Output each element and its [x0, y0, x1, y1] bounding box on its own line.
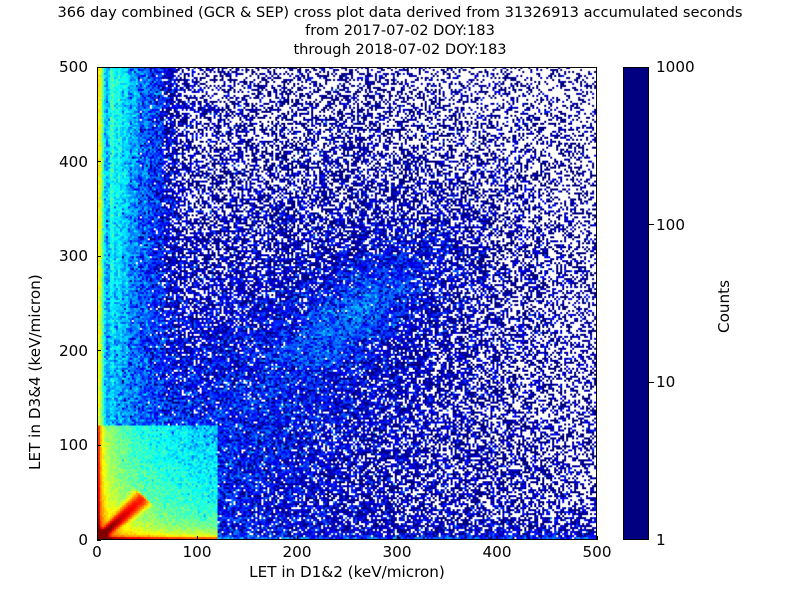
title-line-3: through 2018-07-02 DOY:183 [0, 41, 800, 59]
x-tick-mark [297, 536, 298, 540]
heatmap-image [98, 68, 596, 539]
y-tick-label: 500 [40, 58, 88, 76]
colorbar [623, 67, 649, 540]
y-tick-mark [97, 67, 101, 68]
y-tick-mark [97, 445, 101, 446]
y-tick-mark [97, 350, 101, 351]
colorbar-tick-mark [649, 382, 654, 383]
y-tick-mark [97, 161, 101, 162]
figure-canvas: 366 day combined (GCR & SEP) cross plot … [0, 0, 800, 600]
y-tick-label: 100 [40, 436, 88, 454]
y-tick-label: 200 [40, 342, 88, 360]
colorbar-tick-label: 1000 [656, 58, 695, 76]
y-tick-label: 400 [40, 153, 88, 171]
title-line-1: 366 day combined (GCR & SEP) cross plot … [0, 4, 800, 22]
colorbar-tick-label: 10 [656, 373, 675, 391]
figure-title: 366 day combined (GCR & SEP) cross plot … [0, 4, 800, 59]
x-tick-label: 500 [583, 543, 612, 561]
colorbar-tick-mark [649, 224, 654, 225]
colorbar-tick-label: 100 [656, 216, 685, 234]
x-tick-mark [197, 536, 198, 540]
y-tick-mark [97, 256, 101, 257]
x-axis-label: LET in D1&2 (keV/micron) [97, 563, 597, 581]
x-tick-label: 200 [283, 543, 312, 561]
x-tick-label: 0 [92, 543, 102, 561]
title-line-2: from 2017-07-02 DOY:183 [0, 22, 800, 40]
x-tick-label: 300 [383, 543, 412, 561]
plot-area [97, 67, 597, 540]
y-tick-label: 0 [40, 531, 88, 549]
colorbar-tick-label: 1 [656, 531, 666, 549]
x-tick-mark [597, 536, 598, 540]
y-axis-label: LET in D3&4 (keV/micron) [26, 274, 44, 470]
y-tick-mark [97, 540, 101, 541]
x-tick-label: 100 [183, 543, 212, 561]
y-tick-label: 300 [40, 247, 88, 265]
colorbar-label: Counts [715, 280, 733, 333]
x-tick-mark [397, 536, 398, 540]
x-tick-label: 400 [483, 543, 512, 561]
x-tick-mark [497, 536, 498, 540]
colorbar-gradient [623, 67, 649, 540]
